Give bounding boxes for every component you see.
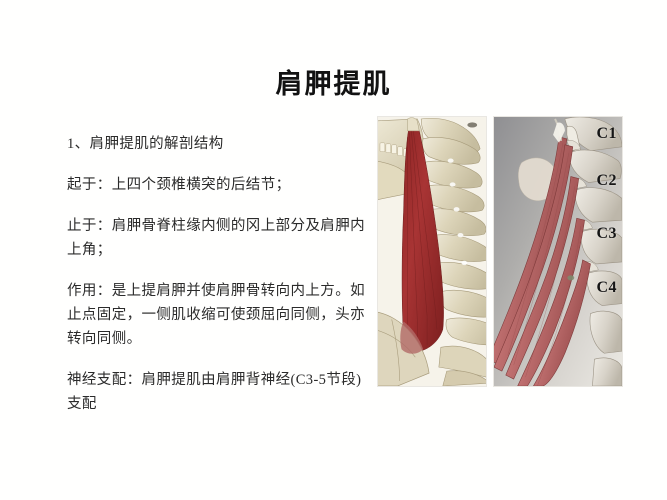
innervation-paragraph: 神经支配：肩胛提肌由肩胛背神经(C3-5节段)支配: [67, 368, 367, 416]
section-heading: 1、肩胛提肌的解剖结构: [67, 132, 367, 156]
figure-levator-scapulae-fascicles: C1 C2 C3 C4: [493, 116, 623, 387]
insertion-paragraph: 止于：肩胛骨脊柱缘内侧的冈上部分及肩胛内上角；: [67, 214, 367, 262]
origin-paragraph: 起于：上四个颈椎横突的后结节；: [67, 173, 367, 197]
page-title: 肩胛提肌: [0, 62, 667, 101]
figure-cervical-spine-lateral: [377, 116, 487, 387]
anatomy-text-column: 1、肩胛提肌的解剖结构 起于：上四个颈椎横突的后结节； 止于：肩胛骨脊柱缘内侧的…: [67, 132, 367, 416]
slide-canvas: 肩胛提肌 1、肩胛提肌的解剖结构 起于：上四个颈椎横突的后结节； 止于：肩胛骨脊…: [0, 0, 667, 500]
action-paragraph: 作用：是上提肩胛并使肩胛骨转向内上方。如止点固定，一侧肌收缩可使颈屈向同侧，头亦…: [67, 279, 367, 351]
anatomy-figure-group: C1 C2 C3 C4: [377, 116, 623, 387]
